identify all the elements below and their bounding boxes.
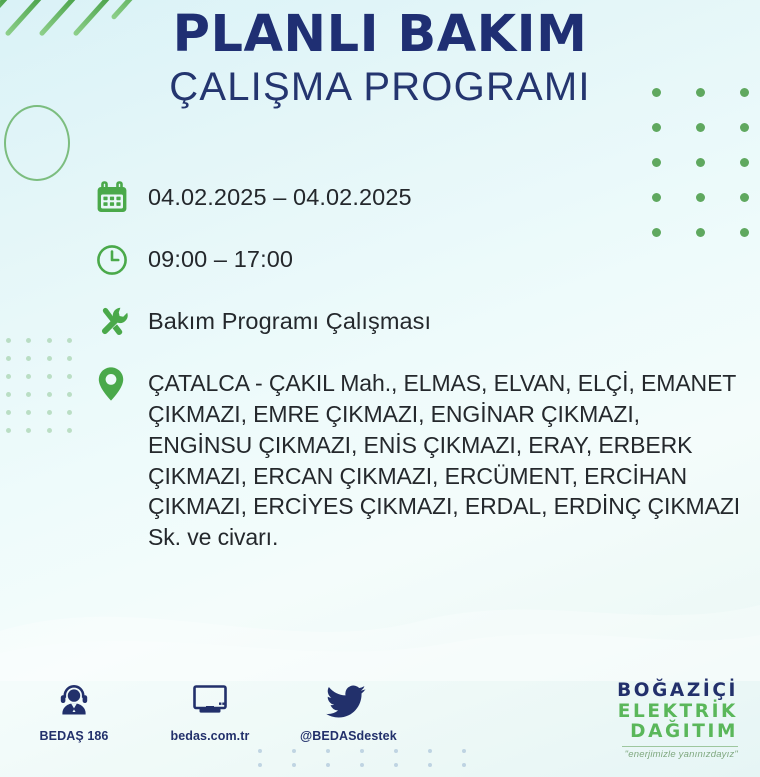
- info-row-time: 09:00 – 17:00: [96, 241, 742, 281]
- call-center-agent-icon: [28, 679, 120, 721]
- contact-label: @BEDASdestek: [300, 729, 392, 743]
- clock-icon: [96, 241, 148, 281]
- info-row-date: 04.02.2025 – 04.02.2025: [96, 179, 742, 219]
- logo-line-3: DAĞITIM: [617, 722, 738, 743]
- contact-item-website[interactable]: bedas.com.tr: [164, 679, 256, 743]
- bedas-logo: BOĞAZİÇİ ELEKTRİK DAĞITIM "enerjimizle y…: [617, 677, 744, 760]
- logo-line-2: ELEKTRİK: [617, 702, 738, 723]
- page-subtitle: ÇALIŞMA PROGRAMI: [0, 66, 760, 109]
- poster-header: PLANLI BAKIM ÇALIŞMA PROGRAMI: [0, 0, 760, 109]
- time-range-text: 09:00 – 17:00: [148, 241, 742, 275]
- contact-label: bedas.com.tr: [164, 729, 256, 743]
- poster-canvas: PLANLI BAKIM ÇALIŞMA PROGRAMI: [0, 0, 760, 777]
- info-row-work-type: Bakım Programı Çalışması: [96, 303, 742, 343]
- tools-icon: [96, 303, 148, 343]
- contact-item-phone[interactable]: BEDAŞ 186: [28, 679, 120, 743]
- location-text: ÇATALCA - ÇAKIL Mah., ELMAS, ELVAN, ELÇİ…: [148, 365, 742, 553]
- twitter-bird-icon: [300, 679, 392, 721]
- poster-footer: BEDAŞ 186 bedas.com.tr: [0, 669, 760, 777]
- page-title: PLANLI BAKIM: [0, 8, 760, 62]
- circle-outline-decoration: [4, 105, 70, 181]
- info-list: 04.02.2025 – 04.02.2025 09:00 – 17:00: [0, 179, 760, 553]
- contact-item-twitter[interactable]: @BEDASdestek: [300, 679, 392, 743]
- logo-line-1: BOĞAZİÇİ: [617, 681, 738, 702]
- work-type-text: Bakım Programı Çalışması: [148, 303, 742, 337]
- monitor-icon: [164, 679, 256, 721]
- calendar-icon: [96, 179, 148, 219]
- logo-tagline: "enerjimizle yanınızdayız": [617, 749, 738, 760]
- location-pin-icon: [96, 365, 148, 404]
- info-row-location: ÇATALCA - ÇAKIL Mah., ELMAS, ELVAN, ELÇİ…: [96, 365, 742, 553]
- wave-decoration: [0, 561, 760, 681]
- contact-list: BEDAŞ 186 bedas.com.tr: [28, 677, 392, 743]
- logo-divider: [622, 746, 738, 747]
- contact-label: BEDAŞ 186: [28, 729, 120, 743]
- date-range-text: 04.02.2025 – 04.02.2025: [148, 179, 742, 213]
